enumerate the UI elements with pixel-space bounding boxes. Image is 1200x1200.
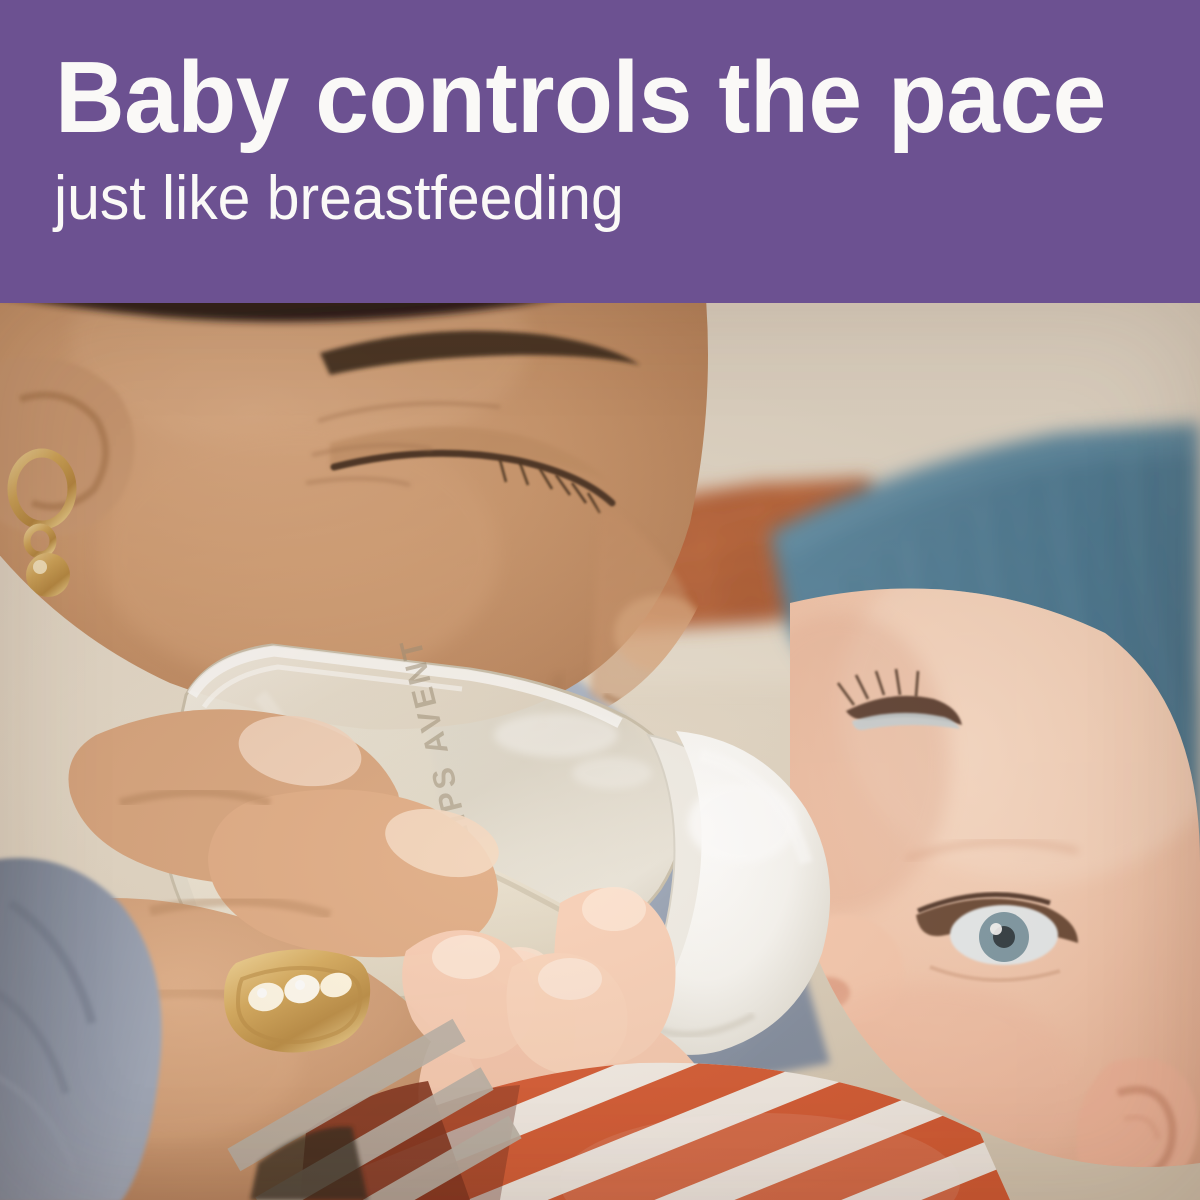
lifestyle-photo: PHILIPS AVENT [0, 303, 1200, 1200]
header-band: Baby controls the pace just like breastf… [0, 0, 1200, 303]
photo-illustration: PHILIPS AVENT [0, 303, 1200, 1200]
page-subtitle: just like breastfeeding [54, 166, 624, 232]
philips-avent-marketing-banner: Baby controls the pace just like breastf… [0, 0, 1200, 1200]
gold-ring [224, 949, 370, 1052]
page-title: Baby controls the pace [55, 46, 1106, 150]
